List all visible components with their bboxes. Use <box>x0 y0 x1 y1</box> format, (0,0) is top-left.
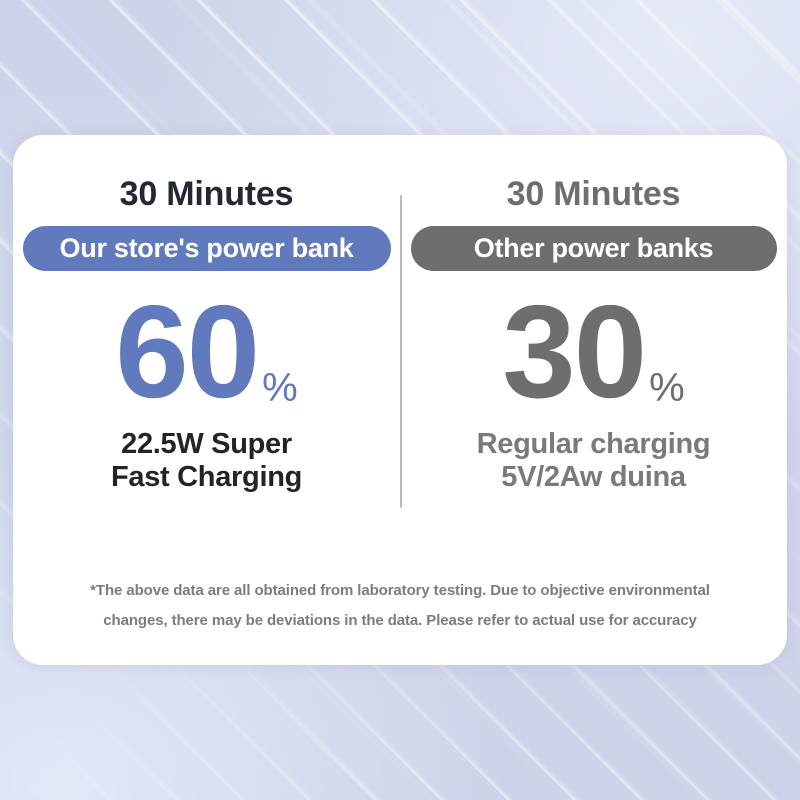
promo-poster: 30 Minutes Our store's power bank 60 % 2… <box>0 0 800 800</box>
caption-ours: 22.5W Super Fast Charging <box>13 428 400 494</box>
duration-label-other: 30 Minutes <box>400 177 787 211</box>
badge-wrap-other: Other power banks <box>400 226 787 271</box>
badge-other-power-banks: Other power banks <box>411 226 777 271</box>
disclaimer-footnote: *The above data are all obtained from la… <box>61 576 739 638</box>
badge-our-power-bank: Our store's power bank <box>23 226 391 271</box>
disclaimer-line2: changes, there may be deviations in the … <box>61 606 739 637</box>
percentage-value-other: 30 <box>502 293 645 412</box>
percentage-figure-ours: 60 % <box>13 293 400 412</box>
caption-other-line2: 5V/2Aw duina <box>400 461 787 494</box>
comparison-card: 30 Minutes Our store's power bank 60 % 2… <box>13 135 787 665</box>
duration-label-ours: 30 Minutes <box>13 177 400 211</box>
percentage-value-ours: 60 <box>115 293 258 412</box>
caption-ours-line2: Fast Charging <box>13 461 400 494</box>
caption-other-line1: Regular charging <box>400 428 787 461</box>
caption-other: Regular charging 5V/2Aw duina <box>400 428 787 494</box>
caption-ours-line1: 22.5W Super <box>13 428 400 461</box>
badge-wrap-ours: Our store's power bank <box>13 226 400 271</box>
percentage-figure-other: 30 % <box>400 293 787 412</box>
disclaimer-line1: *The above data are all obtained from la… <box>61 576 739 607</box>
percent-sign-other: % <box>649 370 685 406</box>
percent-sign-ours: % <box>262 370 298 406</box>
